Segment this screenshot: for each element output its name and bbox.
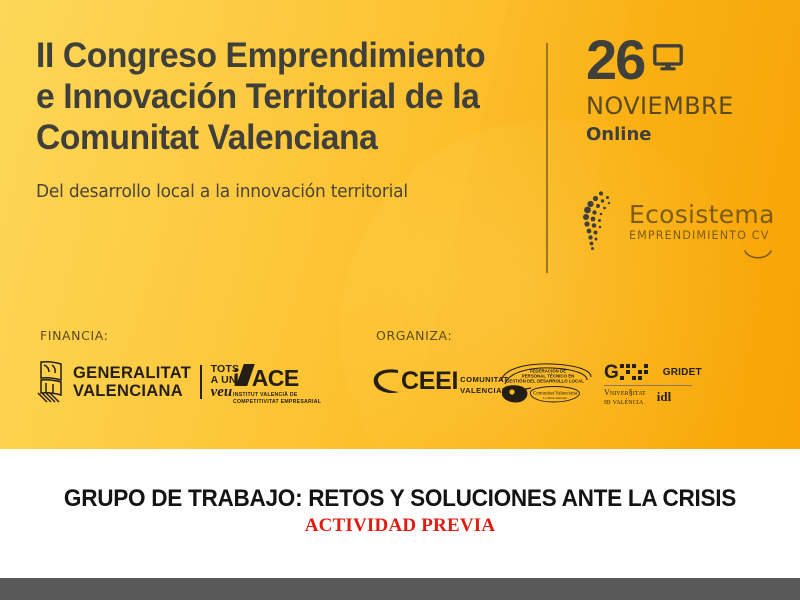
ceei-swoosh-icon bbox=[372, 366, 400, 396]
date-day: 26 bbox=[586, 32, 644, 88]
ecosistema-smile-icon bbox=[743, 250, 773, 261]
ecosistema-tagline-cv: CV bbox=[752, 229, 770, 242]
headline-line-2: e Innovación Territorial de la bbox=[36, 76, 516, 117]
svg-text:La Mancomunitat: La Mancomunitat bbox=[543, 396, 567, 400]
generalitat-shield-icon bbox=[36, 360, 66, 404]
ivace-mark-right: ACE bbox=[252, 366, 299, 390]
ivace-subtitle-line-1: INSTITUT VALENCIÀ DE bbox=[233, 392, 321, 399]
organiza-label: ORGANIZA: bbox=[376, 328, 452, 343]
event-banner: II Congreso Emprendimiento e Innovación … bbox=[0, 0, 800, 449]
date-month: NOVIEMBRE bbox=[586, 93, 786, 119]
caption-main-title: GRUPO DE TRABAJO: RETOS Y SOLUCIONES ANT… bbox=[24, 485, 776, 513]
generalitat-line-2: VALENCIANA bbox=[73, 382, 191, 400]
ivace-subtitle-line-2: COMPETITIVITAT EMPRESARIAL bbox=[233, 399, 321, 406]
title-block: II Congreso Emprendimiento e Innovación … bbox=[36, 35, 536, 203]
svg-text:GESTIÓN DEL DESARROLLO LOCAL: GESTIÓN DEL DESARROLLO LOCAL bbox=[506, 379, 584, 384]
universitat-line-1: Vniver§itat bbox=[604, 388, 646, 397]
gridet-top-row: G GRIDET bbox=[604, 363, 702, 382]
logo-generalitat-valenciana: GENERALITAT VALENCIANA TOTS A UNA veu bbox=[36, 360, 244, 404]
event-subtitle: Del desarrollo local a la innovación ter… bbox=[36, 158, 521, 203]
generalitat-wordmark: GENERALITAT VALENCIANA bbox=[73, 364, 191, 400]
ecosistema-wordmark: Ecosistema EMPRENDIMIENTO CV bbox=[629, 200, 775, 242]
ecosistema-name: Ecosistema bbox=[629, 202, 775, 228]
ivace-wordmark: i ACE bbox=[233, 364, 299, 390]
presentation-slide: II Congreso Emprendimiento e Innovación … bbox=[0, 0, 800, 600]
gridet-pixel-icon bbox=[620, 363, 654, 382]
footer-bar bbox=[0, 578, 800, 600]
gridet-g-mark: G bbox=[604, 363, 619, 382]
ecosistema-logo: Ecosistema EMPRENDIMIENTO CV bbox=[578, 190, 775, 252]
ivace-subtitle: INSTITUT VALENCIÀ DE COMPETITIVITAT EMPR… bbox=[233, 392, 321, 405]
logo-federacion-personal-tecnico: FEDERACIÓN DE PERSONAL TÉCNICO EN GESTIÓ… bbox=[498, 362, 594, 408]
monitor-icon bbox=[653, 44, 683, 76]
universitat-valencia-wordmark: Vniver§itat ið valència bbox=[604, 388, 646, 406]
caption-subtitle: ACTIVIDAD PREVIA bbox=[0, 515, 800, 537]
caption-area: GRUPO DE TRABAJO: RETOS Y SOLUCIONES ANT… bbox=[0, 449, 800, 578]
ecosistema-tagline: EMPRENDIMIENTO CV bbox=[629, 229, 775, 242]
gridet-divider bbox=[604, 385, 692, 386]
logo-ceei: CEEI COMUNITAT VALENCIANA bbox=[372, 366, 514, 396]
federacion-emblem-icon: FEDERACIÓN DE PERSONAL TÉCNICO EN GESTIÓ… bbox=[498, 362, 594, 408]
ceei-wordmark: CEEI bbox=[401, 369, 458, 394]
generalitat-line-1: GENERALITAT bbox=[73, 364, 191, 382]
ecosistema-dots-icon bbox=[578, 190, 624, 252]
headline-line-1: II Congreso Emprendimiento bbox=[36, 35, 516, 76]
headline-line-3: Comunitat Valenciana bbox=[36, 117, 516, 158]
gridet-bottom-row: Vniver§itat ið valència idl bbox=[604, 388, 671, 406]
date-row: 26 bbox=[586, 32, 786, 88]
ceei-name: CEEI bbox=[401, 367, 458, 395]
ecosistema-tagline-text: EMPRENDIMIENTO bbox=[629, 229, 747, 242]
generalitat-separator bbox=[200, 365, 201, 399]
date-mode: Online bbox=[586, 125, 786, 145]
date-block: 26 NOVIEMBRE Online bbox=[586, 32, 786, 145]
universitat-line-2: ið valència bbox=[604, 397, 646, 406]
logo-gridet: G GRIDET Vniver§itat ið valència bbox=[604, 363, 702, 406]
financia-label: FINANCIA: bbox=[40, 328, 109, 343]
logo-ivace: i ACE INSTITUT VALENCIÀ DE COMPETITIVITA… bbox=[233, 364, 321, 405]
idl-wordmark: idl bbox=[657, 390, 671, 403]
gridet-name: GRIDET bbox=[663, 368, 702, 378]
vertical-divider bbox=[546, 43, 548, 273]
